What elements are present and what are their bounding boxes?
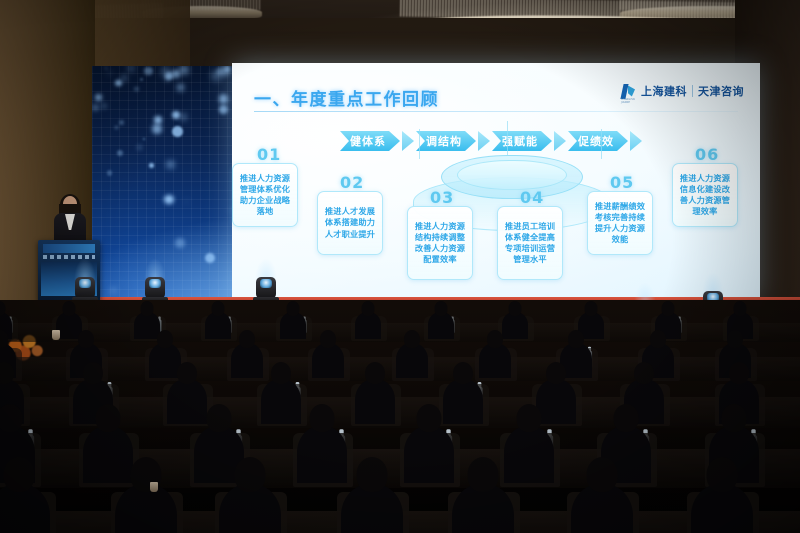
bokeh-dot [105, 67, 107, 69]
logo-latin: SHANGHAI JIANKE [621, 98, 636, 104]
bokeh-dot [154, 116, 162, 124]
item-card-02: 推进人才发展体系搭建助力人才职业提升 [317, 191, 383, 255]
logo-mark-icon: SHANGHAI JIANKE [621, 84, 636, 99]
audience-member [115, 484, 177, 533]
bokeh-dot [180, 66, 188, 74]
item-card-05: 推进薪酬绩效考核完善持续提升人力资源效能 [587, 191, 653, 255]
item-number-06: 06 [695, 145, 719, 164]
audience-member [341, 484, 403, 533]
bokeh-dot [144, 67, 153, 76]
bokeh-dot [107, 170, 113, 176]
item-number-04: 04 [520, 188, 544, 207]
coffee-cup-icon [52, 330, 60, 340]
bokeh-dot [134, 87, 138, 91]
chevron-arrow-icon [554, 131, 566, 151]
audience-member [167, 379, 207, 424]
item-number-03: 03 [430, 188, 454, 207]
bokeh-dot [175, 238, 185, 248]
audience-member [428, 312, 454, 339]
audience-member [280, 312, 306, 339]
audience-member [231, 343, 263, 378]
audience-member [297, 426, 347, 484]
audience-member [312, 343, 344, 378]
audience-member [355, 312, 381, 339]
item-card-06: 推进人力资源信息化建设改善人力资源管理效率 [672, 163, 738, 227]
bokeh-dot [164, 195, 173, 204]
bokeh-dot [140, 78, 143, 81]
item-card-03: 推进人力资源结构持续调整改善人力资源配置效率 [407, 206, 473, 280]
audience-area [0, 300, 800, 533]
audience-member [355, 379, 395, 424]
conference-hall-photo: 一、年度重点工作回顾 SHANGHAI JIANKE 上海建科 天津咨询 健体系… [0, 0, 800, 533]
item-card-04: 推进员工培训体系健全提高专项培训运营管理水平 [497, 206, 563, 280]
bokeh-dot [92, 104, 99, 111]
bokeh-dot [172, 70, 180, 78]
chevron-step-4: 促绩效 [568, 131, 628, 151]
coffee-cup-icon [150, 482, 158, 492]
bokeh-dot [101, 103, 106, 108]
bokeh-dot [149, 163, 154, 168]
chevron-arrow-icon [630, 131, 642, 151]
audience-member [205, 312, 231, 339]
item-card-01: 推进人力资源管理体系优化助力企业战略落地 [232, 163, 298, 227]
item-number-05: 05 [610, 173, 634, 192]
logo-unit-text: 天津咨询 [698, 83, 744, 99]
item-number-01: 01 [257, 145, 281, 164]
audience-member [404, 426, 454, 484]
bokeh-dot [128, 66, 133, 71]
logo-brand-text: 上海建科 [641, 83, 687, 99]
bokeh-dot [185, 200, 188, 203]
audience-member [479, 343, 511, 378]
logo-divider [692, 85, 693, 97]
brand-logo: SHANGHAI JIANKE 上海建科 天津咨询 [621, 83, 744, 99]
bokeh-dot [152, 124, 162, 134]
bokeh-dot [108, 72, 111, 75]
bokeh-dot [225, 66, 231, 72]
audience-member [452, 484, 514, 533]
bokeh-dot [137, 145, 142, 150]
chevron-step-3: 强赋能 [492, 131, 552, 151]
bokeh-dot [95, 94, 102, 101]
audience-member [396, 343, 428, 378]
chevron-step-1: 健体系 [340, 131, 400, 151]
process-chevrons: 健体系 调结构 强赋能 促绩效 [340, 131, 642, 151]
chevron-step-2: 调结构 [416, 131, 476, 151]
chevron-arrow-icon [402, 131, 414, 151]
audience-member [261, 379, 301, 424]
chevron-arrow-icon [478, 131, 490, 151]
item-number-02: 02 [340, 173, 364, 192]
title-divider [254, 111, 738, 112]
bokeh-dot [172, 126, 183, 137]
audience-member [502, 312, 528, 339]
presentation-slide: 一、年度重点工作回顾 SHANGHAI JIANKE 上海建科 天津咨询 健体系… [232, 63, 760, 303]
audience-member [504, 426, 554, 484]
audience-member [83, 426, 133, 484]
slide-title: 一、年度重点工作回顾 [254, 85, 439, 110]
audience-member [443, 379, 483, 424]
audience-member [691, 484, 753, 533]
